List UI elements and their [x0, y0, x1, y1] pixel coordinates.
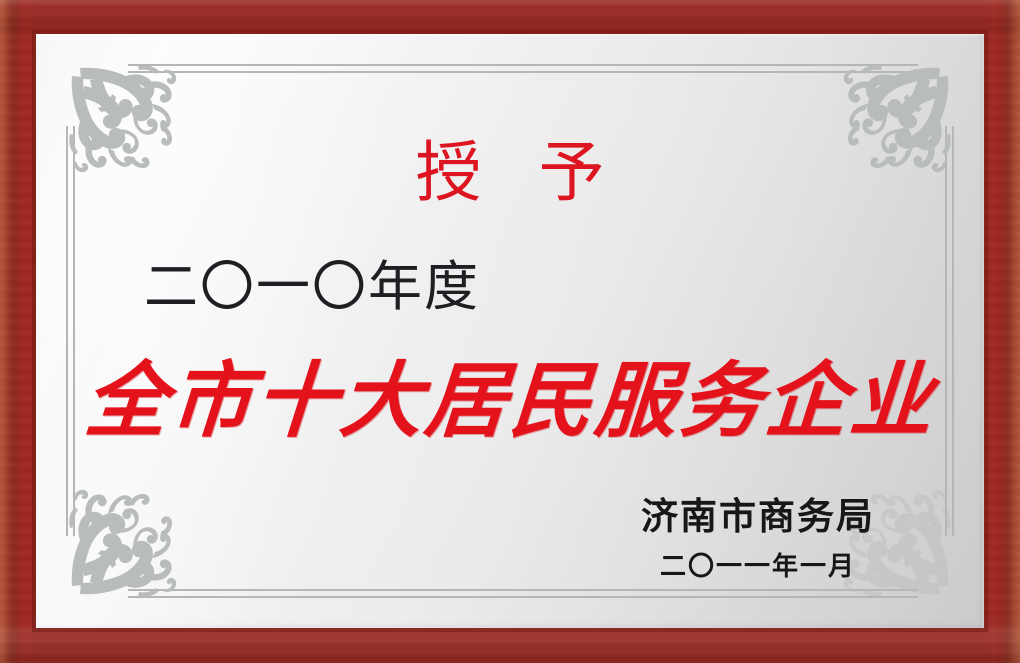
border-rule-right-inner: [945, 126, 947, 536]
plaque-panel: 授 予 二〇一〇年度 全市十大居民服务企业 济南市商务局 二〇一一年一月: [36, 34, 984, 628]
border-rule-bottom-inner: [128, 589, 918, 591]
award-plaque: 授 予 二〇一〇年度 全市十大居民服务企业 济南市商务局 二〇一一年一月: [0, 0, 1020, 663]
award-verb-text: 授 予: [36, 140, 984, 206]
plaque-content: 授 予 二〇一〇年度 全市十大居民服务企业 济南市商务局 二〇一一年一月: [36, 34, 984, 628]
corner-flourish-icon-top-right: [838, 60, 956, 178]
panel-sheen: [36, 34, 984, 628]
border-rule-bottom-outer: [128, 596, 918, 598]
award-title-text: 全市十大居民服务企业: [36, 358, 984, 444]
border-rule-top-outer: [128, 64, 918, 66]
corner-flourish-icon-bottom-left: [64, 484, 182, 602]
award-year-text: 二〇一〇年度: [144, 260, 480, 314]
border-rule-left-inner: [73, 126, 75, 536]
issuer-block: 济南市商务局 二〇一一年一月: [608, 498, 908, 580]
border-rule-top-inner: [128, 71, 918, 73]
issuer-name-text: 济南市商务局: [608, 498, 908, 535]
corner-flourish-icon-top-left: [64, 60, 182, 178]
corner-flourish-icon-bottom-right: [838, 484, 956, 602]
issuer-date-text: 二〇一一年一月: [608, 554, 908, 580]
border-rule-right-outer: [952, 126, 954, 536]
border-rule-left-outer: [66, 126, 68, 536]
